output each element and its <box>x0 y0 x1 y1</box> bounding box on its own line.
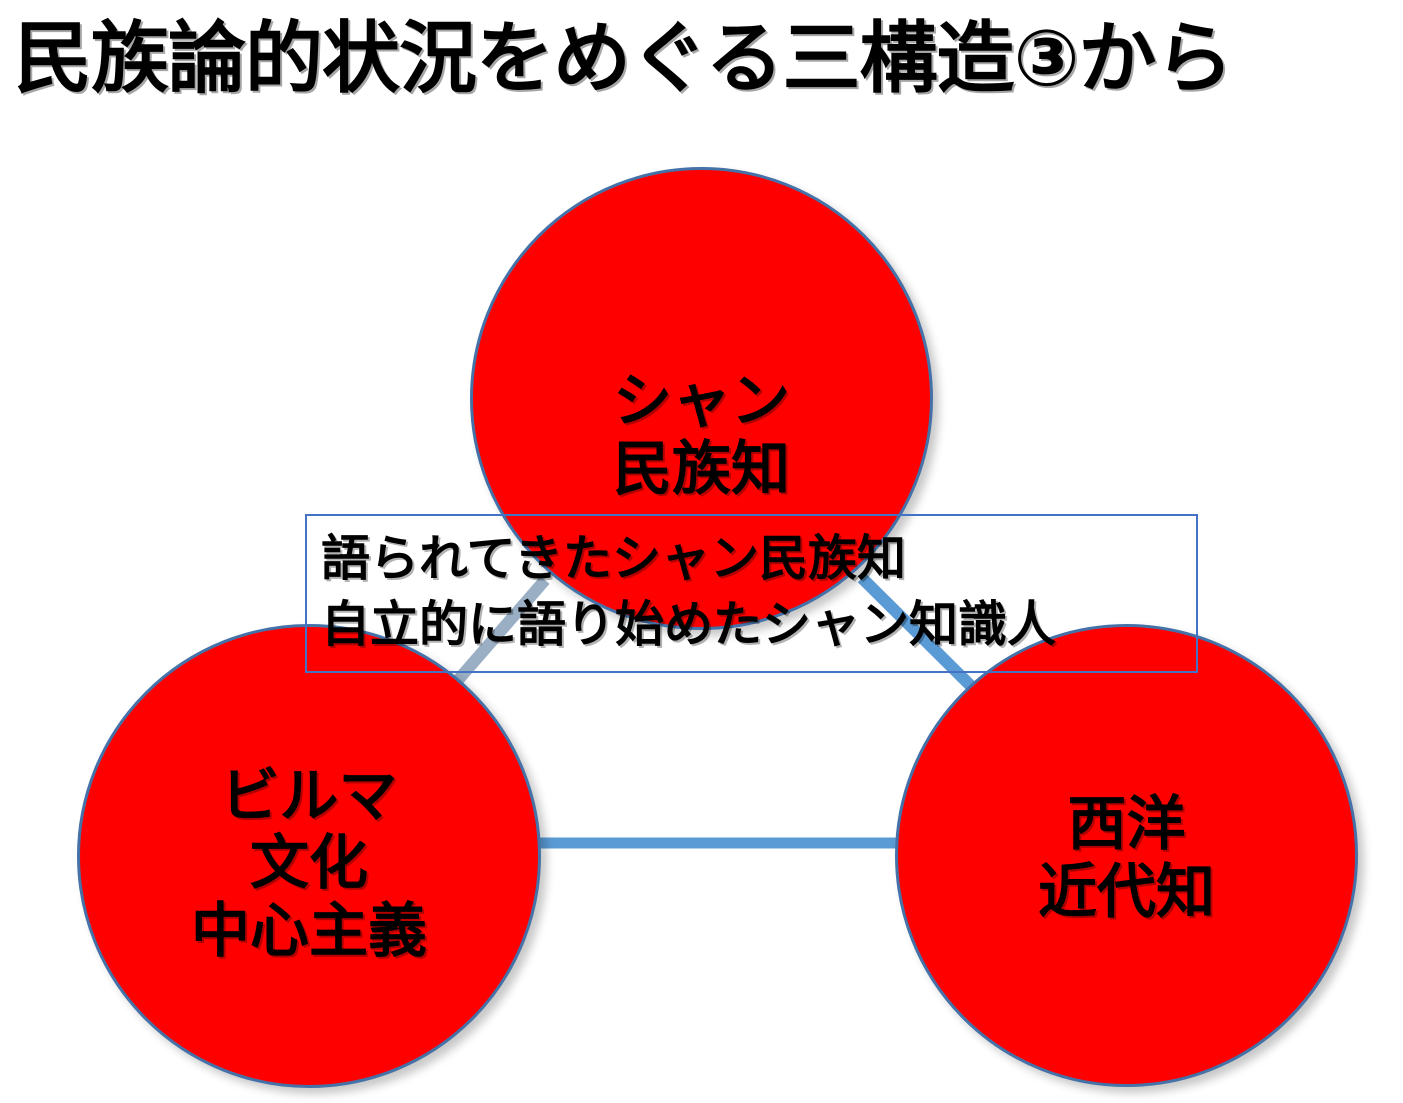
node-west-label: 西洋 近代知 <box>1038 791 1215 926</box>
slide-canvas: 民族論的状況をめぐる三構造③から シャン 民族知 ビルマ 文化 中心主義 西洋 … <box>0 0 1403 1103</box>
node-burmese-cultural-centrism[interactable]: ビルマ 文化 中心主義 <box>77 624 541 1088</box>
node-western-modern-knowledge[interactable]: 西洋 近代知 <box>895 624 1358 1087</box>
annotation-box[interactable]: 語られてきたシャン民族知 自立的に語り始めたシャン知識人 <box>305 514 1198 673</box>
page-title: 民族論的状況をめぐる三構造③から <box>14 18 1394 100</box>
node-shan-label: シャン 民族知 <box>613 368 790 503</box>
node-burma-label: ビルマ 文化 中心主義 <box>191 763 427 965</box>
annotation-line-2: 自立的に語り始めたシャン知識人 <box>321 592 1196 658</box>
annotation-line-1: 語られてきたシャン民族知 <box>321 526 1196 592</box>
